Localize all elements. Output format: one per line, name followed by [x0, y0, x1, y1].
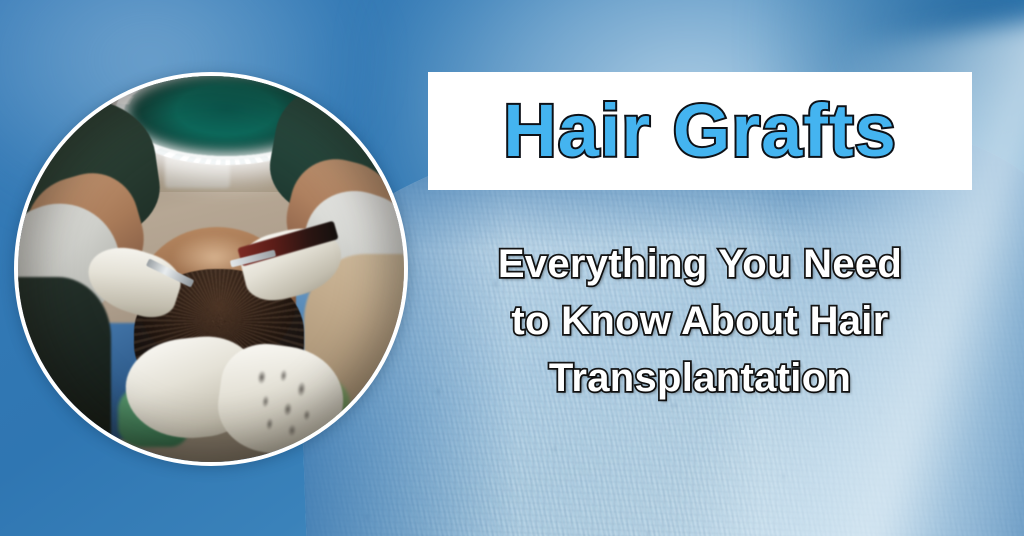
subtitle-line-2: to Know About Hair	[420, 293, 980, 350]
subtitle-line-1: Everything You Need	[420, 236, 980, 293]
title-plate: Hair Grafts	[428, 72, 972, 190]
subtitle-line-3: Transplantation	[420, 350, 980, 407]
surgery-photo	[14, 72, 408, 466]
page-title: Hair Grafts	[503, 94, 896, 168]
hair-grafts-banner: Hair Grafts Everything You Need to Know …	[0, 0, 1024, 536]
photo-vignette	[18, 76, 404, 462]
subtitle: Everything You Need to Know About Hair T…	[420, 236, 980, 406]
